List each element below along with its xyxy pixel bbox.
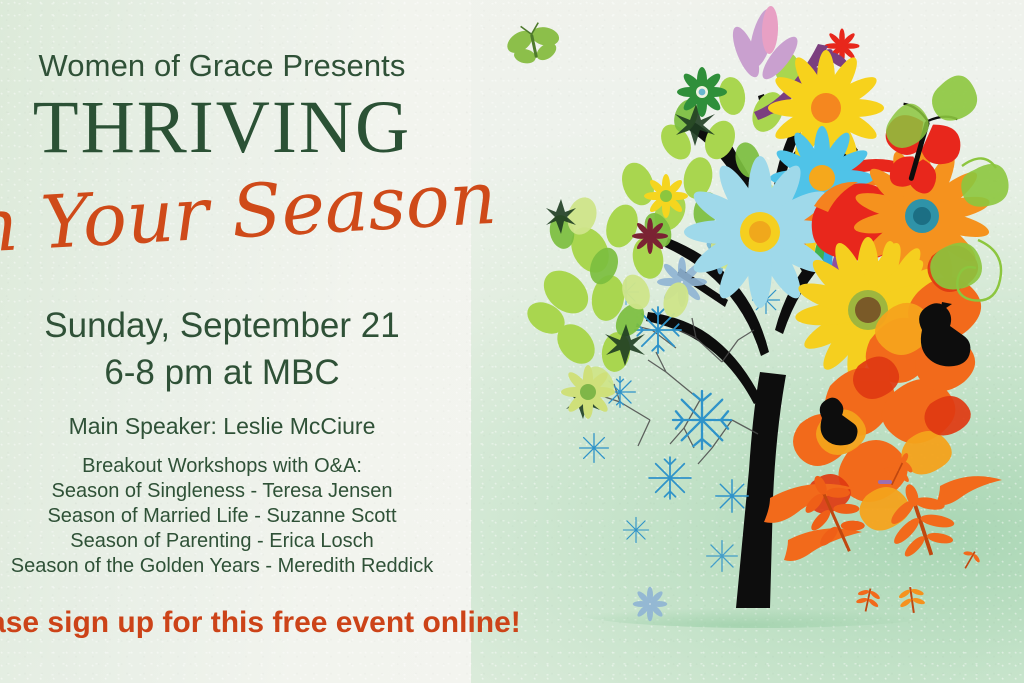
poster-subheadline-script: in Your Season xyxy=(0,157,502,272)
poster-text-column: Women of Grace Presents THRIVING in Your… xyxy=(0,0,500,683)
workshops-heading: Breakout Workshops with O&A: xyxy=(0,454,500,479)
green-butterfly xyxy=(501,18,567,70)
four-seasons-tree-illustration xyxy=(470,0,1024,683)
signup-call-to-action: Please sign up for this free event onlin… xyxy=(0,606,500,640)
poster-kicker: Women of Grace Presents xyxy=(0,48,500,84)
breakout-workshops-list: Breakout Workshops with O&A: Season of S… xyxy=(0,454,500,579)
workshop-item: Season of Married Life - Suzanne Scott xyxy=(0,504,500,529)
poster-headline: THRIVING xyxy=(0,90,500,165)
event-time-location: 6-8 pm at MBC xyxy=(0,353,500,393)
event-poster: Women of Grace Presents THRIVING in Your… xyxy=(0,0,1024,683)
workshop-item: Season of the Golden Years - Meredith Re… xyxy=(0,554,500,579)
workshop-item: Season of Singleness - Teresa Jensen xyxy=(0,479,500,504)
small-purple-dash xyxy=(878,480,892,484)
main-speaker: Main Speaker: Leslie McCiure xyxy=(0,413,500,440)
workshop-item: Season of Parenting - Erica Losch xyxy=(0,529,500,554)
event-date: Sunday, September 21 xyxy=(0,306,500,346)
